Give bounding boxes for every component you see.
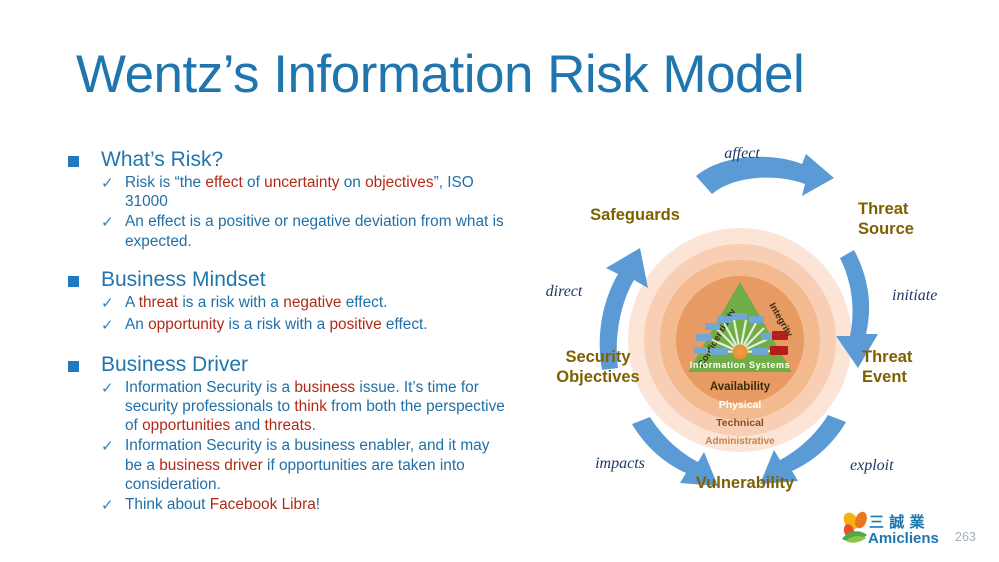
- sunburst-core: [733, 345, 748, 360]
- highlight-term: negative: [283, 294, 341, 311]
- butterfly-icon: [841, 510, 869, 543]
- sub-point: ✓An effect is a positive or negative dev…: [101, 212, 508, 250]
- cycle-label-vulnerability: Vulnerability: [696, 474, 795, 492]
- plain-text: effect.: [341, 294, 387, 311]
- check-icon: ✓: [101, 174, 125, 194]
- ring-label-administrative: Administrative: [705, 436, 775, 447]
- cycle-label-safeguards: Safeguards: [590, 206, 680, 224]
- square-bullet-icon: [68, 276, 79, 287]
- plain-text: is a risk with a: [178, 294, 283, 311]
- plain-text: Information Security is a: [125, 379, 294, 396]
- sub-point: ✓A threat is a risk with a negative effe…: [101, 293, 508, 314]
- plain-text: of: [243, 174, 264, 191]
- plain-text: An: [125, 316, 148, 333]
- section-heading-label: Business Mindset: [101, 267, 266, 292]
- section-heading-label: What’s Risk?: [101, 147, 223, 172]
- slide-canvas: Wentz’s Information Risk Model What’s Ri…: [0, 0, 999, 562]
- section-gap: [68, 337, 508, 350]
- plain-text: Risk is “the: [125, 174, 205, 191]
- sub-point-text: A threat is a risk with a negative effec…: [125, 293, 387, 312]
- check-icon: ✓: [101, 379, 125, 399]
- logo-latin: Amicliens: [868, 530, 939, 547]
- sub-point-text: An opportunity is a risk with a positive…: [125, 315, 428, 334]
- sub-point-text: Risk is “the effect of uncertainty on ob…: [125, 173, 508, 211]
- sub-point-list: ✓A threat is a risk with a negative effe…: [101, 293, 508, 336]
- ring-label-availability: Availability: [710, 381, 771, 393]
- highlight-term: threats: [265, 417, 312, 434]
- arrow-label-affect: affect: [724, 145, 760, 162]
- sub-point: ✓Information Security is a business enab…: [101, 436, 508, 494]
- plain-text: !: [316, 496, 320, 513]
- information-risk-model-diagram: Confidentiality Integrity Information Sy…: [520, 140, 990, 510]
- plain-text: on: [339, 174, 365, 191]
- highlight-term: objectives: [365, 174, 433, 191]
- plain-text: A: [125, 294, 139, 311]
- sub-point: ✓Information Security is a business issu…: [101, 378, 508, 436]
- arrow-label-initiate: initiate: [892, 287, 937, 304]
- square-bullet-icon: [68, 361, 79, 372]
- cycle-label-threat-source-1: Threat: [858, 200, 909, 218]
- check-icon: ✓: [101, 316, 125, 336]
- section-heading-1: Business Mindset: [68, 267, 508, 292]
- plain-text: An effect is a positive or negative devi…: [125, 213, 504, 249]
- highlight-term: business driver: [159, 457, 263, 474]
- sub-point: ✓An opportunity is a risk with a positiv…: [101, 315, 508, 336]
- plain-text: Think about: [125, 496, 210, 513]
- content-column: What’s Risk?✓Risk is “the effect of unce…: [68, 145, 508, 517]
- triangle-label-information-systems: Information Systems: [690, 360, 790, 370]
- arrow-label-direct: direct: [546, 283, 583, 300]
- logo-chinese: 三 誠 業: [869, 513, 925, 531]
- cycle-label-threat-event-1: Threat: [862, 348, 913, 366]
- highlight-term: Facebook Libra: [210, 496, 316, 513]
- plain-text: .: [312, 417, 316, 434]
- highlight-term: opportunity: [148, 316, 224, 333]
- section-heading-2: Business Driver: [68, 352, 508, 377]
- plain-text: effect.: [382, 316, 428, 333]
- page-title: Wentz’s Information Risk Model: [76, 44, 804, 105]
- cycle-label-security-objectives-2: Objectives: [556, 368, 639, 386]
- highlight-term: uncertainty: [264, 174, 339, 191]
- sub-point-text: An effect is a positive or negative devi…: [125, 212, 508, 250]
- highlight-term: positive: [329, 316, 381, 333]
- highlight-term: opportunities: [142, 417, 230, 434]
- sub-point-text: Information Security is a business issue…: [125, 378, 508, 436]
- ring-label-technical: Technical: [716, 417, 764, 429]
- highlight-term: effect: [205, 174, 242, 191]
- check-icon: ✓: [101, 213, 125, 233]
- page-number: 263: [955, 530, 976, 544]
- plain-text: and: [230, 417, 264, 434]
- section-gap: [68, 252, 508, 265]
- section-heading-label: Business Driver: [101, 352, 248, 377]
- check-icon: ✓: [101, 437, 125, 457]
- check-icon: ✓: [101, 294, 125, 314]
- sub-point-list: ✓Risk is “the effect of uncertainty on o…: [101, 173, 508, 251]
- arrow-label-impacts: impacts: [595, 455, 645, 472]
- sub-point-text: Think about Facebook Libra!: [125, 495, 320, 514]
- plain-text: is a risk with a: [224, 316, 329, 333]
- sub-point: ✓Risk is “the effect of uncertainty on o…: [101, 173, 508, 211]
- cycle-label-security-objectives-1: Security: [565, 348, 631, 366]
- highlight-term: threat: [139, 294, 178, 311]
- section-heading-0: What’s Risk?: [68, 147, 508, 172]
- cycle-label-threat-event-2: Event: [862, 368, 907, 386]
- arrow-affect: [696, 154, 834, 196]
- highlight-term: business: [294, 379, 355, 396]
- check-icon: ✓: [101, 496, 125, 516]
- cycle-label-threat-source-2: Source: [858, 220, 914, 238]
- sub-point: ✓Think about Facebook Libra!: [101, 495, 508, 516]
- sub-point-text: Information Security is a business enabl…: [125, 436, 508, 494]
- sub-point-list: ✓Information Security is a business issu…: [101, 378, 508, 516]
- ring-label-physical: Physical: [719, 399, 762, 411]
- arrow-label-exploit: exploit: [850, 457, 894, 474]
- highlight-term: think: [294, 398, 327, 415]
- square-bullet-icon: [68, 156, 79, 167]
- logo-chinese-text: 三 誠 業: [869, 513, 925, 531]
- company-logo: 三 誠 業 Amicliens: [840, 510, 940, 552]
